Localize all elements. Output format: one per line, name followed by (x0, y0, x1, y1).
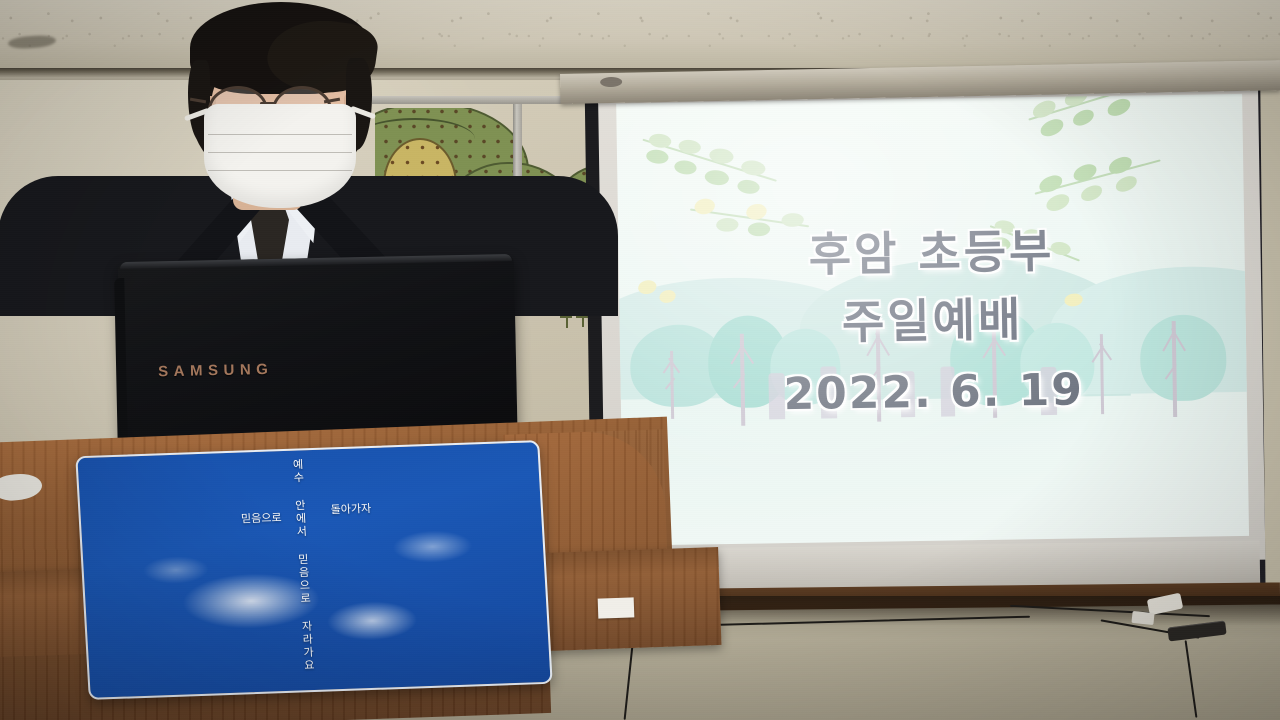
doodle-leaf (560, 316, 572, 318)
photo-scene: 후암 초등부 주일예배 2022. 6. 19 (0, 0, 1280, 720)
doodle-leaf (576, 316, 588, 318)
banner-vertical-text: 예수 안에서 믿음으로 자라가요 (292, 458, 315, 672)
laptop-brand-logo: SAMSUNG (158, 361, 274, 380)
screen-mount-knob (600, 77, 622, 87)
banner-right-text: 돌아가자 (330, 500, 371, 517)
projection-screen-surface: 후암 초등부 주일예배 2022. 6. 19 (616, 94, 1249, 546)
slide-title-line2: 주일예배 (619, 280, 1246, 356)
slide-title-line1: 후암 초등부 (618, 212, 1245, 288)
laptop-edge (114, 278, 128, 448)
banner-left-text: 믿음으로 (241, 509, 282, 526)
power-plug (1131, 611, 1154, 625)
projection-screen: 후암 초등부 주일예배 2022. 6. 19 (598, 82, 1265, 570)
slide-date: 2022. 6. 19 (620, 362, 1247, 423)
podium-label-sticker (598, 597, 635, 618)
face-mask (204, 104, 356, 208)
podium-banner: 예수 안에서 믿음으로 자라가요 믿음으로 돌아가자 (75, 440, 552, 700)
